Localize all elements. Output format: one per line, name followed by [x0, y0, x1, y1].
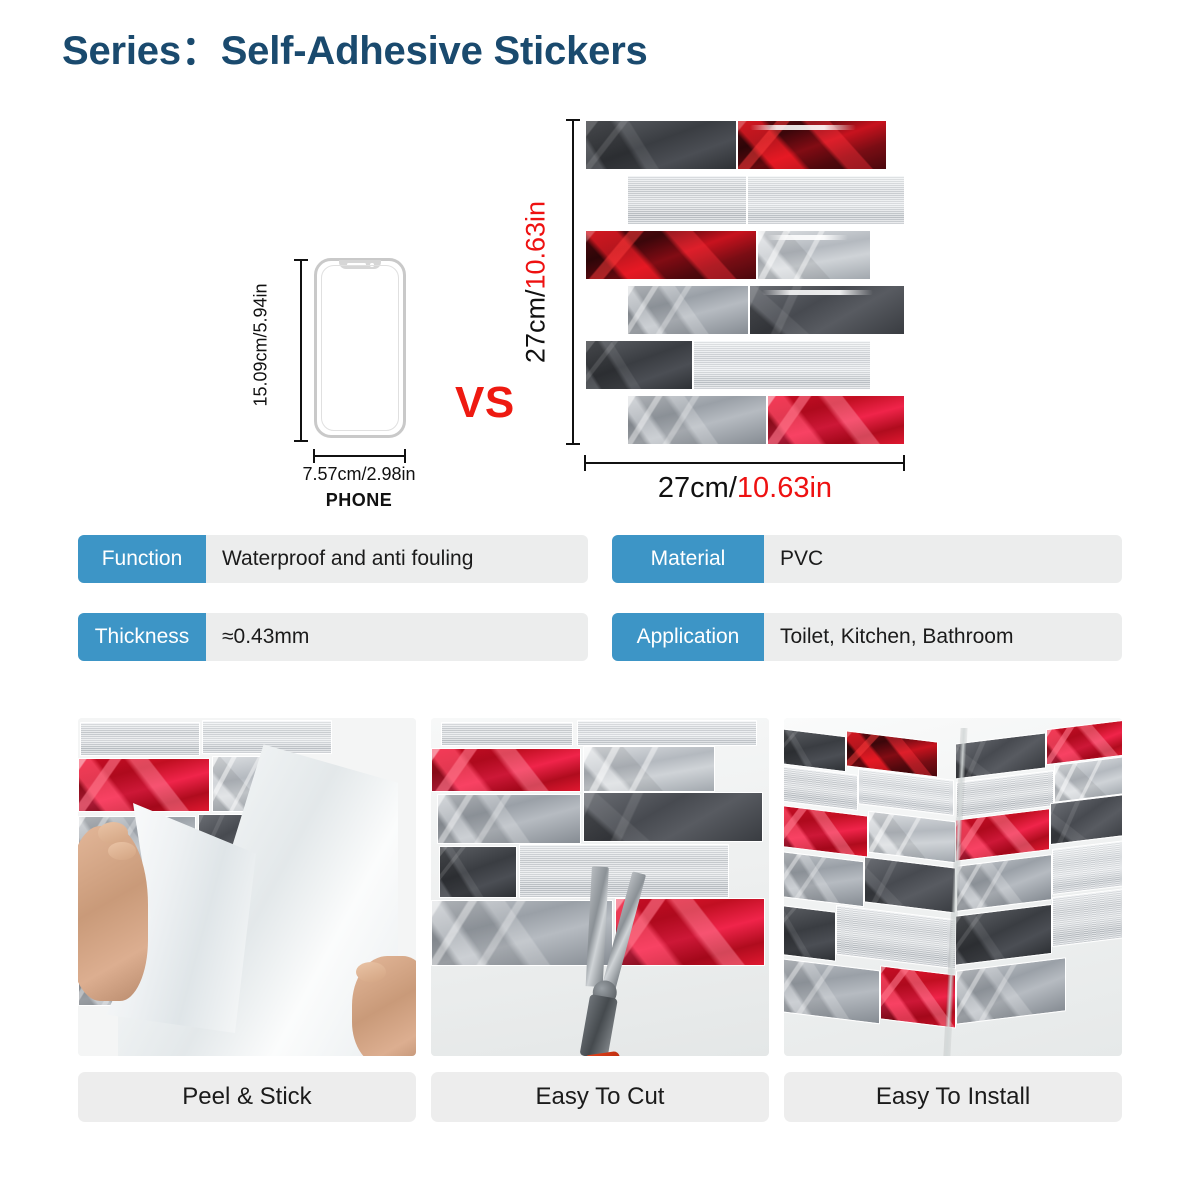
spec-value-function: Waterproof and anti fouling: [206, 535, 588, 583]
tile-row: [585, 395, 905, 445]
tile-height-label-in: 10.63in: [521, 201, 551, 290]
phone-height-label: 15.09cm/5.94in: [251, 283, 272, 406]
phone-name-label: PHONE: [326, 490, 393, 511]
spec-key-application: Application: [612, 613, 764, 661]
tile-width-label-cm: 27cm/: [658, 472, 737, 504]
phone-width-cap-left: [313, 449, 315, 463]
feature-easy-to-install: Easy To Install: [784, 718, 1122, 1122]
photo2-tile: [577, 720, 757, 746]
tile: [585, 340, 693, 390]
photo2-tile: [441, 722, 573, 746]
phone-size-diagram: 15.09cm/5.94in 7.57cm/2.98in PHONE: [258, 250, 458, 500]
spec-key-function: Function: [78, 535, 206, 583]
phone-width-dimension-line: [314, 455, 406, 457]
size-comparison-section: 15.09cm/5.94in 7.57cm/2.98in PHONE VS: [0, 100, 1200, 500]
tile-width-dimension-line: [585, 462, 905, 464]
tile: [585, 120, 737, 170]
photo3-tile: [956, 957, 1066, 1025]
photo3-tile: [784, 804, 868, 857]
product-infographic: Series：Self-Adhesive Stickers 15.09cm/5.…: [0, 0, 1200, 1200]
tile-width-label: 27cm/10.63in: [658, 472, 832, 505]
caption-easy-to-cut: Easy To Cut: [431, 1072, 769, 1122]
tile-width-label-in: 10.63in: [737, 472, 832, 504]
spec-row-material: Material PVC: [612, 535, 1122, 583]
photo2-tile: [583, 746, 715, 792]
tile: [627, 285, 749, 335]
wall-left-face: [784, 718, 956, 1056]
tile-row: [585, 120, 905, 170]
tile: [585, 230, 757, 280]
tile: [737, 120, 887, 170]
photo2-tile: [583, 792, 763, 842]
photo2-tile: [439, 846, 517, 898]
photo3-tile: [784, 958, 880, 1025]
phone-screen: [321, 265, 399, 431]
tile: [627, 395, 767, 445]
hand-right: [352, 956, 416, 1056]
tile: [747, 175, 905, 225]
feature-peel-and-stick: Peel & Stick: [78, 718, 416, 1122]
photo3-tile: [864, 856, 956, 913]
hand-left: [78, 826, 148, 1001]
tile-row: [585, 285, 905, 335]
photo1-tile: [80, 722, 200, 756]
tile-width-cap-right: [903, 455, 905, 471]
spec-row-application: Application Toilet, Kitchen, Bathroom: [612, 613, 1122, 661]
page-title: Series：Self-Adhesive Stickers: [62, 18, 648, 76]
photo2-tile: [437, 794, 581, 844]
spec-value-material: PVC: [764, 535, 1122, 583]
feature-easy-to-cut: Easy To Cut: [431, 718, 769, 1122]
tile-mosaic: [585, 120, 905, 445]
photo3-tile: [784, 851, 864, 908]
tile-height-dimension-line: [572, 120, 574, 445]
spec-key-thickness: Thickness: [78, 613, 206, 661]
caption-peel-and-stick: Peel & Stick: [78, 1072, 416, 1122]
tile-height-cap-bottom: [566, 443, 580, 445]
tile-row: [585, 230, 905, 280]
phone-height-cap-bottom: [294, 440, 308, 442]
phone-width-label: 7.57cm/2.98in: [302, 464, 415, 485]
feature-photos-section: Peel & Stick: [0, 718, 1200, 1188]
tile: [693, 340, 871, 390]
photo3-tile: [784, 765, 858, 811]
caption-easy-to-install: Easy To Install: [784, 1072, 1122, 1122]
photo2-tile: [431, 748, 581, 792]
phone-height-cap-top: [294, 259, 308, 261]
tile-sheet-diagram: 27cm/10.63in 27cm/10.63in: [560, 110, 920, 510]
photo-peel-and-stick: [78, 718, 416, 1056]
spec-key-material: Material: [612, 535, 764, 583]
photo3-tile: [1052, 887, 1122, 947]
photo1-tile: [78, 758, 210, 812]
spec-value-thickness: ≈0.43mm: [206, 613, 588, 661]
scissors-body: [580, 994, 618, 1056]
photo3-tile: [956, 904, 1052, 966]
tile-height-label: 27cm/10.63in: [521, 201, 552, 363]
spec-table: Function Waterproof and anti fouling Thi…: [0, 525, 1200, 675]
tile-height-cap-top: [566, 119, 580, 121]
tile: [627, 175, 747, 225]
finger: [356, 962, 386, 982]
wall-right-face: [956, 718, 1122, 1056]
photo-easy-to-install: [784, 718, 1122, 1056]
photo3-tile: [868, 811, 956, 864]
phone-outline-icon: [314, 258, 406, 438]
phone-width-cap-right: [404, 449, 406, 463]
photo3-tile: [1052, 839, 1122, 895]
tile-row: [585, 340, 905, 390]
vs-label: VS: [455, 378, 515, 428]
photo3-tile: [956, 854, 1052, 912]
photo-easy-to-cut: [431, 718, 769, 1056]
photo3-tile: [836, 905, 956, 970]
tile-row: [585, 175, 905, 225]
tile: [767, 395, 905, 445]
photo3-tile: [784, 728, 846, 773]
tile: [757, 230, 871, 280]
spec-row-thickness: Thickness ≈0.43mm: [78, 613, 588, 661]
photo3-tile: [784, 904, 836, 962]
tile-height-label-cm: 27cm/: [521, 290, 551, 364]
phone-height-dimension-line: [300, 260, 302, 442]
finger: [108, 842, 136, 860]
photo3-tile: [858, 768, 954, 816]
tile-width-cap-left: [584, 455, 586, 471]
spec-row-function: Function Waterproof and anti fouling: [78, 535, 588, 583]
finger: [98, 822, 128, 844]
tile: [749, 285, 905, 335]
spec-value-application: Toilet, Kitchen, Bathroom: [764, 613, 1122, 661]
